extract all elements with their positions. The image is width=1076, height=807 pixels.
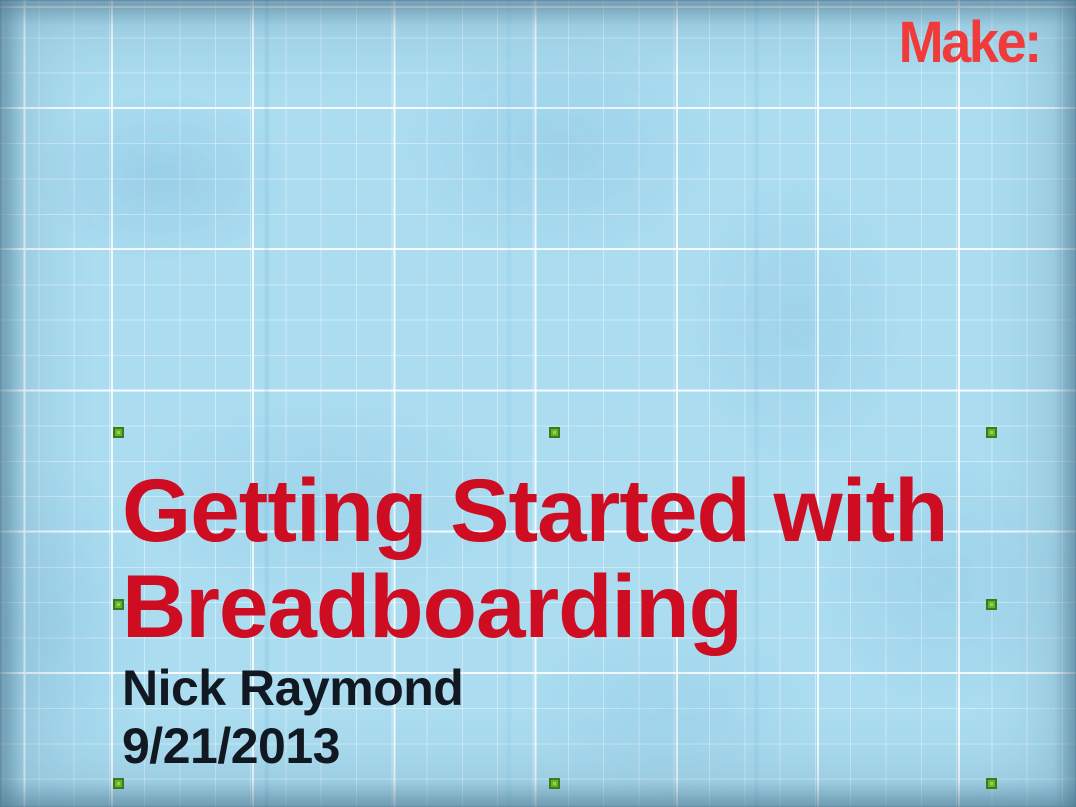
selection-handle-bottom-left[interactable]	[113, 778, 124, 789]
selection-handle-middle-left[interactable]	[113, 599, 124, 610]
selection-handle-middle-right[interactable]	[986, 599, 997, 610]
selection-handle-top-left[interactable]	[113, 427, 124, 438]
presentation-slide: Make: Getting Started with Breadboarding…	[0, 0, 1076, 807]
selection-handle-bottom-center[interactable]	[549, 778, 560, 789]
selection-handle-bottom-right[interactable]	[986, 778, 997, 789]
slide-author: Nick Raymond	[122, 659, 994, 717]
selection-handle-top-center[interactable]	[549, 427, 560, 438]
selection-handle-top-right[interactable]	[986, 427, 997, 438]
slide-title-textbox[interactable]: Getting Started with Breadboarding	[122, 462, 994, 654]
slide-date: 9/21/2013	[122, 717, 994, 775]
slide-title: Getting Started with Breadboarding	[122, 462, 994, 654]
make-magazine-logo: Make:	[899, 14, 1040, 72]
slide-subtitle-textbox[interactable]: Nick Raymond 9/21/2013	[122, 659, 994, 775]
